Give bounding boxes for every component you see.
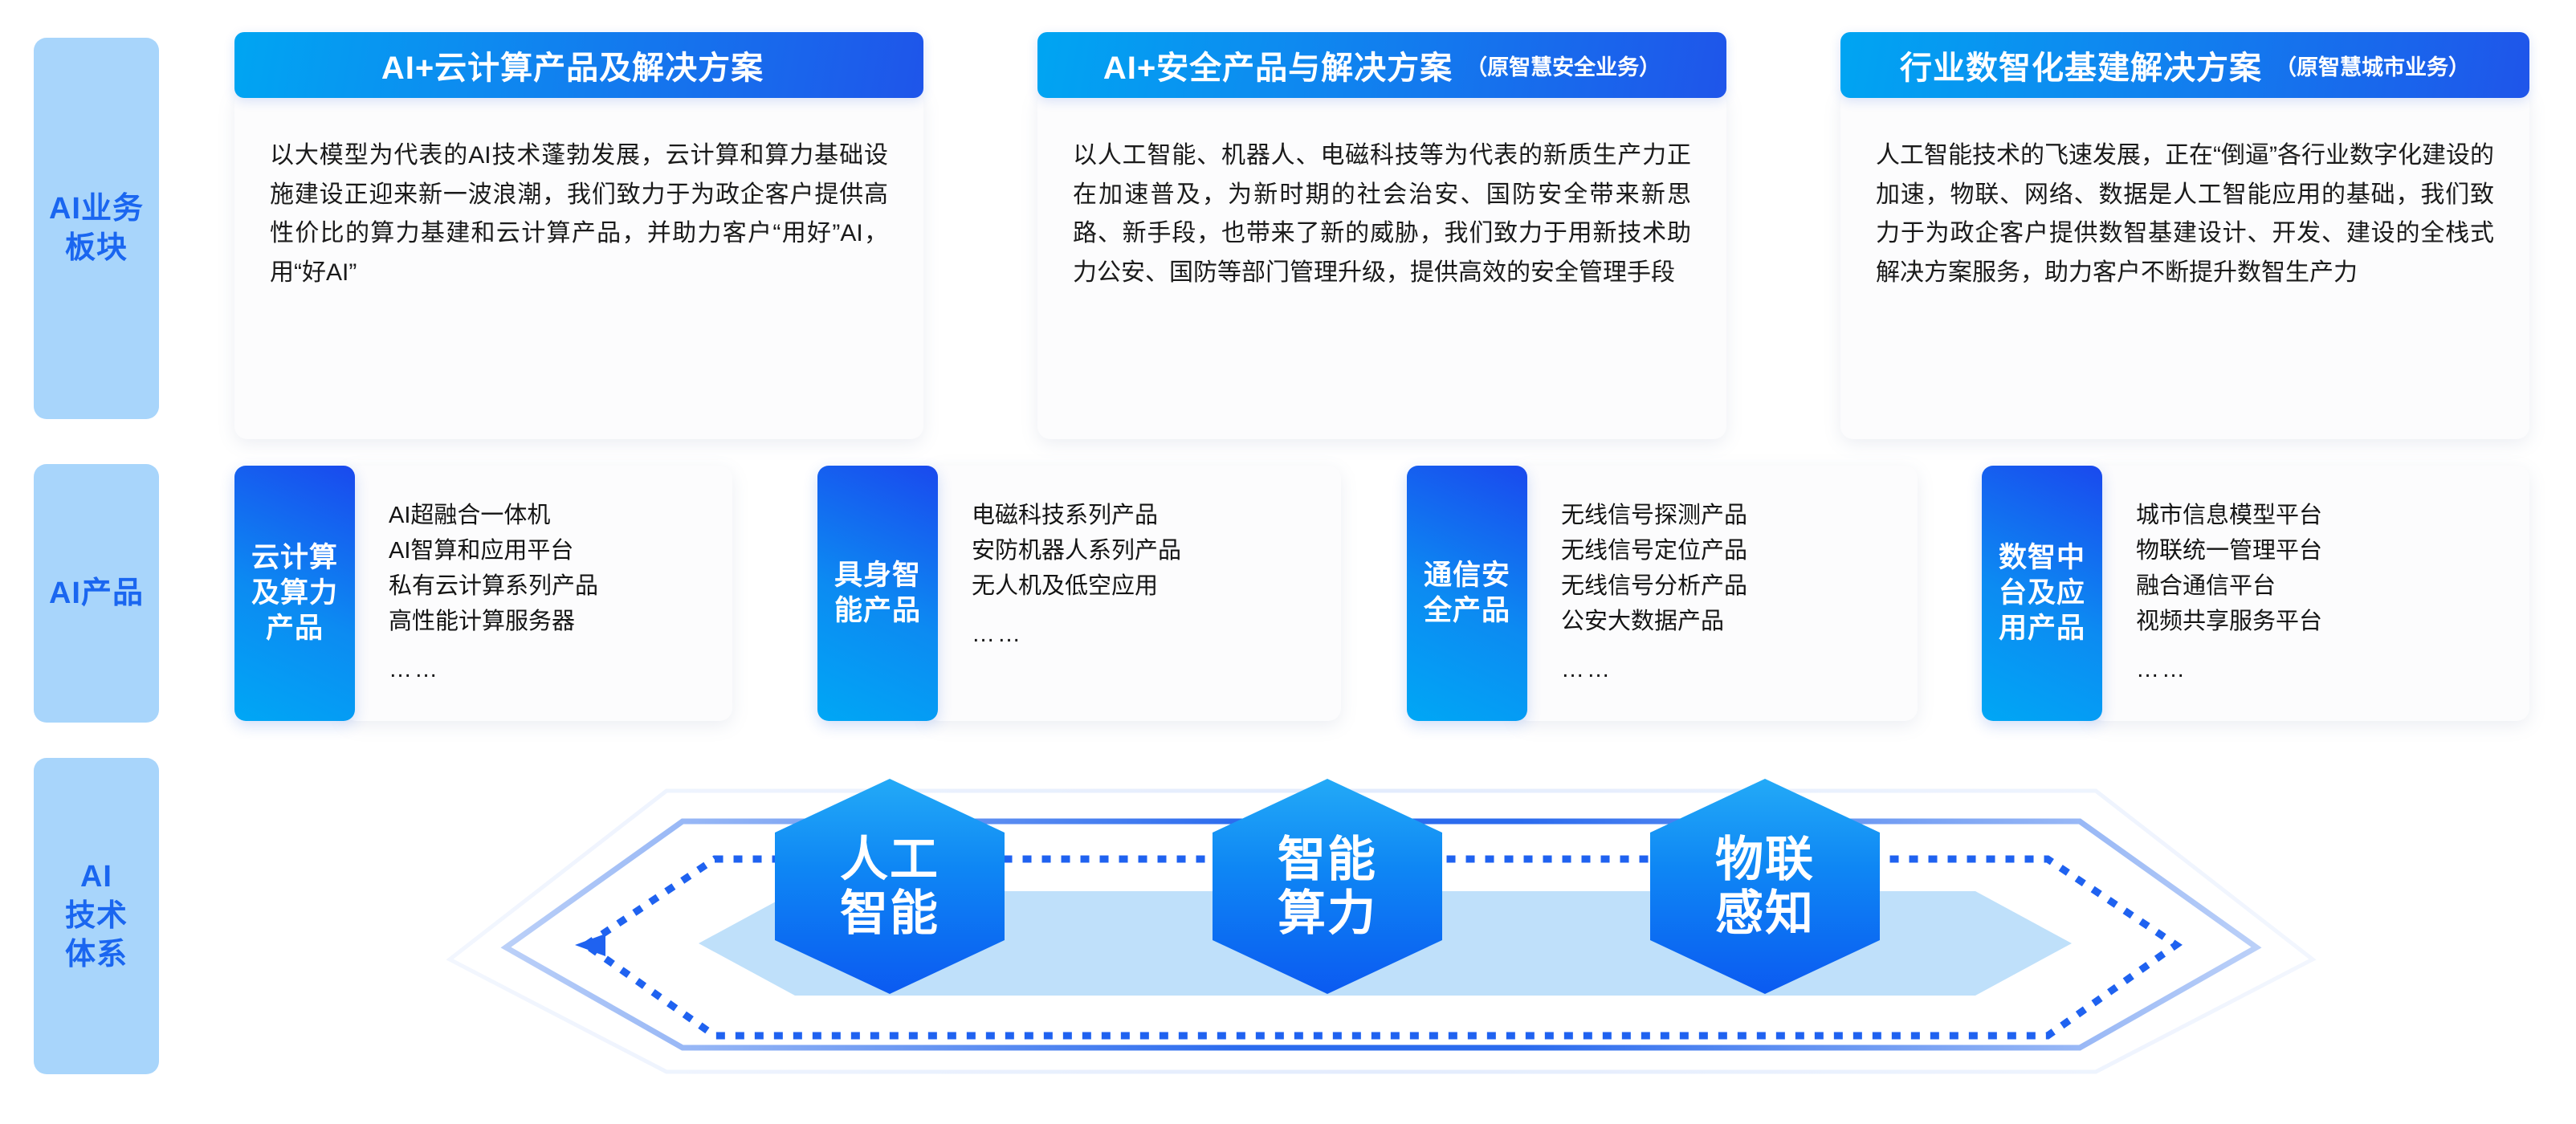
product-item: 无线信号分析产品 [1561,568,1890,604]
business-block: 行业数智化基建解决方案 （原智慧城市业务） 人工智能技术的飞速发展，正在“倒逼”… [1840,32,2529,439]
diagram-canvas: AI业务板块 AI产品 AI技术体系 AI+云计算产品及解决方案 以大模型为代表… [0,0,2576,1124]
product-item: AI智算和应用平台 [389,533,705,568]
business-block: AI+云计算产品及解决方案 以大模型为代表的AI技术蓬勃发展，云计算和算力基础设… [234,32,923,439]
business-block-title: AI+安全产品与解决方案 [1103,42,1453,88]
product-item: 无线信号探测产品 [1561,498,1890,533]
rail-label-product: AI产品 [34,464,159,723]
product-more-indicator: …… [2136,652,2502,687]
product-group-list: 城市信息模型平台 物联统一管理平台 融合通信平台 视频共享服务平台 …… [2091,466,2529,721]
business-block-subtitle: （原智慧安全业务） [1465,50,1661,81]
business-block-header: AI+安全产品与解决方案 （原智慧安全业务） [1037,32,1726,98]
business-block-body: 人工智能技术的飞速发展，正在“倒逼”各行业数字化建设的加速，物联、网络、数据是人… [1840,90,2529,439]
business-block-body: 以人工智能、机器人、电磁科技等为代表的新质生产力正在加速普及，为新时期的社会治安… [1037,90,1726,439]
product-more-indicator: …… [972,617,1314,652]
product-more-indicator: …… [1561,652,1890,687]
product-item: 私有云计算系列产品 [389,568,705,604]
rail-label-product-text: AI产品 [49,574,144,613]
business-block-body: 以大模型为代表的AI技术蓬勃发展，云计算和算力基础设施建设正迎来新一波浪潮，我们… [234,90,923,439]
product-item: 公安大数据产品 [1561,604,1890,639]
business-block-text: 以人工智能、机器人、电磁科技等为代表的新质生产力正在加速普及，为新时期的社会治安… [1073,136,1691,292]
tech-hexagon-label: 人工智能 [840,833,940,940]
rail-label-business: AI业务板块 [34,38,159,419]
product-item: 无线信号定位产品 [1561,533,1890,568]
product-item: 安防机器人系列产品 [972,533,1314,568]
business-block-header: AI+云计算产品及解决方案 [234,32,923,98]
rail-label-business-text: AI业务板块 [49,189,144,267]
tech-hexagon-label: 智能算力 [1278,833,1377,940]
business-block-header: 行业数智化基建解决方案 （原智慧城市业务） [1840,32,2529,98]
business-block-title: AI+云计算产品及解决方案 [381,42,764,88]
product-group-tab: 具身智能产品 [817,466,938,721]
product-group-list: 无线信号探测产品 无线信号定位产品 无线信号分析产品 公安大数据产品 …… [1516,466,1918,721]
product-item: 融合通信平台 [2136,568,2502,604]
business-block-text: 人工智能技术的飞速发展，正在“倒逼”各行业数字化建设的加速，物联、网络、数据是人… [1876,136,2494,292]
business-block-text: 以大模型为代表的AI技术蓬勃发展，云计算和算力基础设施建设正迎来新一波浪潮，我们… [270,136,888,292]
product-item: 高性能计算服务器 [389,604,705,639]
product-group: 云计算及算力产品 AI超融合一体机 AI智算和应用平台 私有云计算系列产品 高性… [234,466,732,721]
business-block-subtitle: （原智慧城市业务） [2275,50,2470,81]
hexagon-arrow-tip [575,934,605,956]
product-item: 电磁科技系列产品 [972,498,1314,533]
product-group-tab: 通信安全产品 [1407,466,1527,721]
tech-hexagon-label: 物联感知 [1715,833,1815,940]
product-item: 视频共享服务平台 [2136,604,2502,639]
rail-label-tech-text: AI技术体系 [65,857,128,975]
rail-label-tech: AI技术体系 [34,758,159,1074]
product-group-list: AI超融合一体机 AI智算和应用平台 私有云计算系列产品 高性能计算服务器 …… [344,466,732,721]
product-item: 物联统一管理平台 [2136,533,2502,568]
product-group-tab: 数智中台及应用产品 [1982,466,2102,721]
product-item: AI超融合一体机 [389,498,705,533]
product-group: 数智中台及应用产品 城市信息模型平台 物联统一管理平台 融合通信平台 视频共享服… [1982,466,2529,721]
product-group-list: 电磁科技系列产品 安防机器人系列产品 无人机及低空应用 …… [927,466,1341,721]
product-more-indicator: …… [389,652,705,687]
tech-system-stage: 人工智能 智能算力 物联感知 [185,727,2576,1120]
product-group-tab: 云计算及算力产品 [234,466,355,721]
product-group: 具身智能产品 电磁科技系列产品 安防机器人系列产品 无人机及低空应用 …… [817,466,1341,721]
business-block: AI+安全产品与解决方案 （原智慧安全业务） 以人工智能、机器人、电磁科技等为代… [1037,32,1726,439]
product-group: 通信安全产品 无线信号探测产品 无线信号定位产品 无线信号分析产品 公安大数据产… [1407,466,1918,721]
product-item: 无人机及低空应用 [972,568,1314,604]
product-item: 城市信息模型平台 [2136,498,2502,533]
business-block-title: 行业数智化基建解决方案 [1900,42,2262,88]
